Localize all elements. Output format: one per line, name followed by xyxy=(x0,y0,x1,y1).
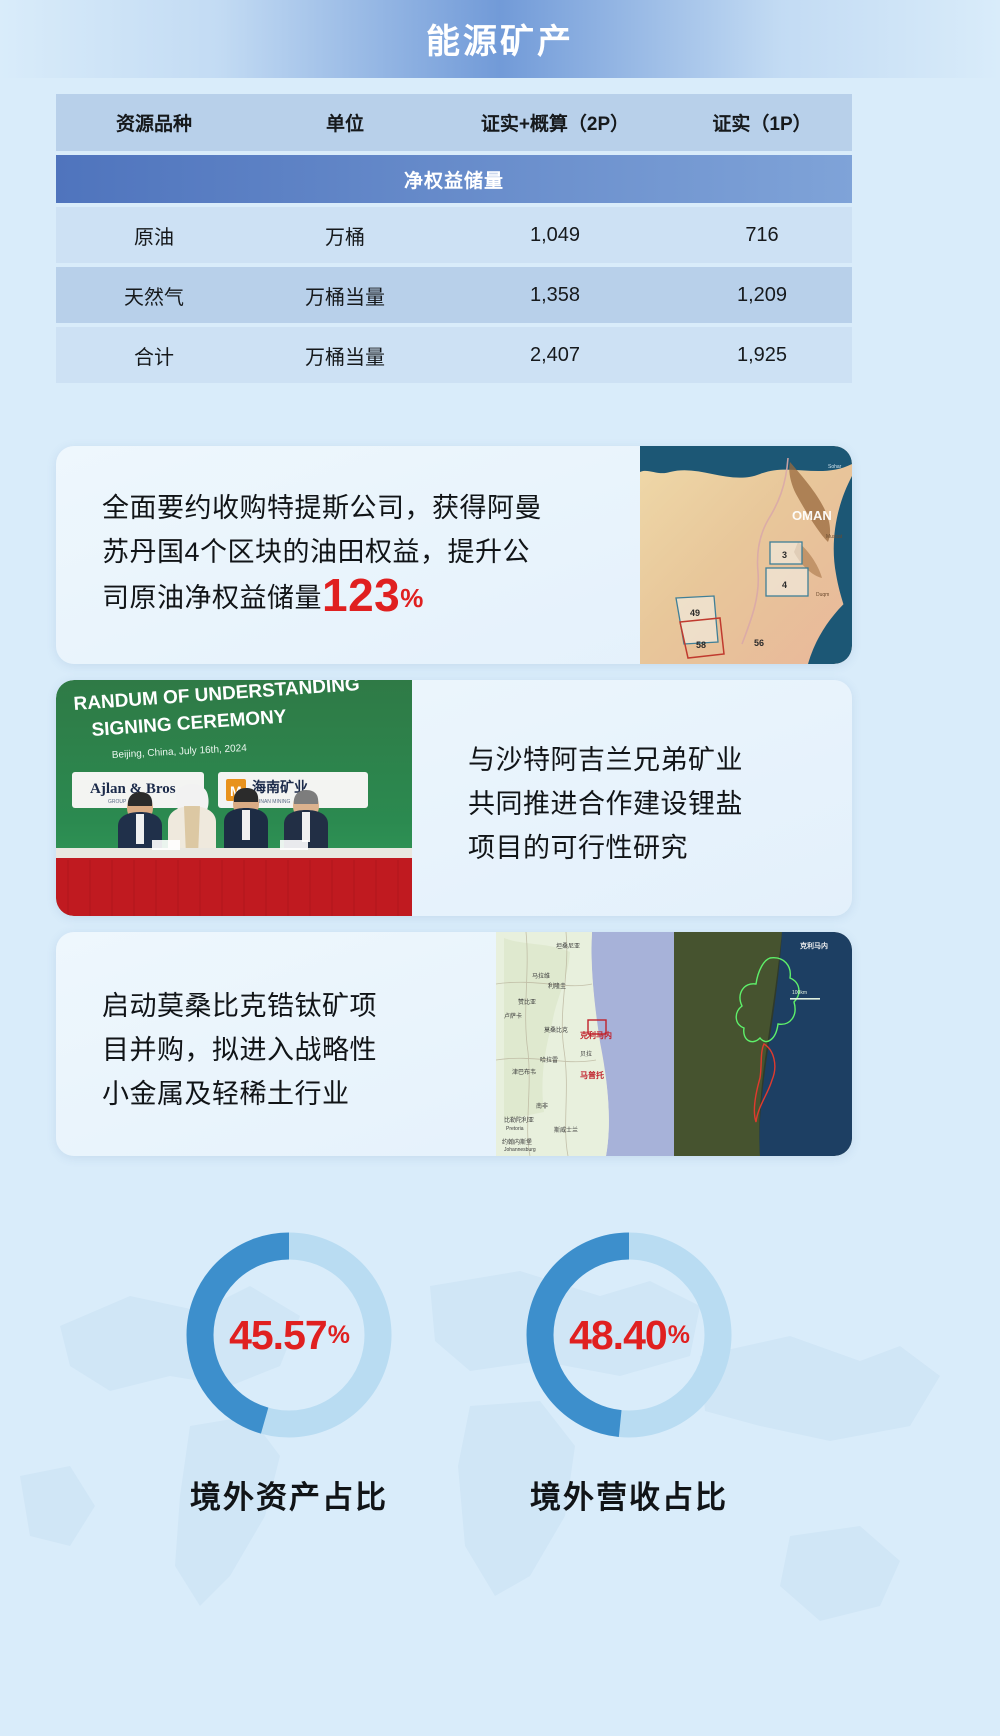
label-beira: 贝拉 xyxy=(580,1050,592,1058)
card-ajlan-line2: 共同推进合作建设锂盐 xyxy=(468,782,818,826)
net-equity-reserves-table: 净权益储量 资源品种 单位 证实+概算（2P） 证实（1P） 原油 万桶 1,0… xyxy=(56,90,852,387)
label-south-africa: 南非 xyxy=(536,1102,548,1110)
card-tethys-line3: 司原油净权益储量123% xyxy=(102,574,647,620)
oman-country-label: OMAN xyxy=(792,508,832,523)
label-mozambique: 莫桑比克 xyxy=(544,1026,568,1034)
card-tethys-text: 全面要约收购特提斯公司，获得阿曼 苏丹国4个区块的油田权益，提升公 司原油净权益… xyxy=(102,486,647,620)
label-pretoria-cn: 比勒陀利亚 xyxy=(504,1116,534,1124)
donut-value-number-2: 48.40 xyxy=(569,1312,667,1359)
card-tethys-line3-prefix: 司原油净权益储量 xyxy=(102,583,322,613)
label-joburg-cn: 约翰内斯堡 xyxy=(502,1138,532,1146)
cell-unit: 万桶 xyxy=(252,207,438,263)
oman-city-sohar: Sohar xyxy=(828,464,842,470)
label-malawi: 马拉维 xyxy=(532,972,550,980)
card-ajlan-lithium-mou: RANDUM OF UNDERSTANDING SIGNING CEREMONY… xyxy=(56,680,852,916)
card-mozambique-project: 启动莫桑比克锆钛矿项 目并购，拟进入战略性 小金属及轻稀土行业 坦桑尼亚 马拉维 xyxy=(56,932,852,1156)
label-quelimane-red: 克利马内 xyxy=(580,1030,612,1040)
label-pretoria-en: Pretoria xyxy=(506,1126,524,1132)
satellite-label-quelimane: 克利马内 xyxy=(800,941,828,950)
donut-value-unit-2: % xyxy=(668,1321,689,1350)
oman-city-duqm: Duqm xyxy=(816,592,829,598)
card-ajlan-line3: 项目的可行性研究 xyxy=(468,826,818,870)
card-tethys-line1: 全面要约收购特提斯公司，获得阿曼 xyxy=(102,486,647,530)
world-map-background xyxy=(0,1176,1000,1736)
satellite-scale-label: 100km xyxy=(792,990,807,996)
mozambique-project-maps: 坦桑尼亚 马拉维 利隆圭 赞比亚 卢萨卡 莫桑比克 哈拉雷 津巴布韦 南非 比勒… xyxy=(496,932,852,1156)
oman-block-label-4: 4 xyxy=(782,580,787,590)
table-row: 天然气 万桶当量 1,358 1,209 xyxy=(56,267,852,323)
oman-concession-map: OMAN Sohar Muscat Duqm 3 4 49 58 56 xyxy=(640,446,852,664)
highlight-number-123: 123 xyxy=(322,569,400,621)
card-tethys-line2: 苏丹国4个区块的油田权益，提升公 xyxy=(102,530,647,574)
cell-unit: 万桶当量 xyxy=(252,267,438,323)
card-tethys-acquisition: 全面要约收购特提斯公司，获得阿曼 苏丹国4个区块的油田权益，提升公 司原油净权益… xyxy=(56,446,852,664)
donut-value-1: 45.57% xyxy=(174,1220,404,1450)
cell-1p: 1,925 xyxy=(672,327,852,383)
label-eswatini: 斯威士兰 xyxy=(554,1126,578,1134)
label-maputo-red: 马普托 xyxy=(580,1070,604,1080)
cell-species: 合计 xyxy=(56,327,252,383)
oman-block-label-56: 56 xyxy=(754,638,764,648)
cell-1p: 716 xyxy=(672,207,852,263)
label-joburg-en: Johannesburg xyxy=(504,1147,536,1153)
table-caption-row: 净权益储量 xyxy=(56,155,852,203)
mozambique-satellite-map: 克利马内 100km xyxy=(674,932,852,1156)
cell-2p: 1,358 xyxy=(438,267,672,323)
column-header-1p: 证实（1P） xyxy=(672,94,852,151)
ceremony-logo-ajlan-sub: GROUP xyxy=(108,799,127,805)
cell-2p: 1,049 xyxy=(438,207,672,263)
donut-overseas-assets: 45.57% xyxy=(174,1220,404,1450)
label-harare: 哈拉雷 xyxy=(540,1056,558,1064)
table-row: 原油 万桶 1,049 716 xyxy=(56,207,852,263)
oman-city-muscat: Muscat xyxy=(826,534,843,540)
card-mozambique-line3: 小金属及轻稀土行业 xyxy=(102,1072,442,1116)
card-ajlan-text: 与沙特阿吉兰兄弟矿业 共同推进合作建设锂盐 项目的可行性研究 xyxy=(468,738,818,870)
donut-label-overseas-revenue: 境外营收占比 xyxy=(464,1472,794,1517)
cell-1p: 1,209 xyxy=(672,267,852,323)
cell-2p: 2,407 xyxy=(438,327,672,383)
donut-overseas-revenue: 48.40% xyxy=(514,1220,744,1450)
donut-label-overseas-assets: 境外资产占比 xyxy=(124,1472,454,1517)
table-row: 合计 万桶当量 2,407 1,925 xyxy=(56,327,852,383)
table-header-row: 资源品种 单位 证实+概算（2P） 证实（1P） xyxy=(56,94,852,151)
card-mozambique-line2: 目并购，拟进入战略性 xyxy=(102,1028,442,1072)
label-zimbabwe: 津巴布韦 xyxy=(512,1068,536,1076)
highlight-percent-sign: % xyxy=(400,583,424,613)
donut-value-unit-1: % xyxy=(328,1321,349,1350)
column-header-unit: 单位 xyxy=(252,94,438,151)
cell-unit: 万桶当量 xyxy=(252,327,438,383)
page-title: 能源矿产 xyxy=(0,14,1000,63)
mou-signing-ceremony-photo: RANDUM OF UNDERSTANDING SIGNING CEREMONY… xyxy=(56,680,412,916)
oman-block-label-49: 49 xyxy=(690,608,700,618)
card-mozambique-text: 启动莫桑比克锆钛矿项 目并购，拟进入战略性 小金属及轻稀土行业 xyxy=(102,984,442,1116)
oman-block-label-58: 58 xyxy=(696,640,706,650)
card-ajlan-line1: 与沙特阿吉兰兄弟矿业 xyxy=(468,738,818,782)
cell-species: 天然气 xyxy=(56,267,252,323)
label-zambia: 赞比亚 xyxy=(518,998,536,1006)
card-mozambique-line1: 启动莫桑比克锆钛矿项 xyxy=(102,984,442,1028)
column-header-species: 资源品种 xyxy=(56,94,252,151)
oman-block-label-3: 3 xyxy=(782,550,787,560)
donut-value-2: 48.40% xyxy=(514,1220,744,1450)
table-caption: 净权益储量 xyxy=(56,155,852,203)
label-tanzania: 坦桑尼亚 xyxy=(556,942,580,950)
mozambique-region-map: 坦桑尼亚 马拉维 利隆圭 赞比亚 卢萨卡 莫桑比克 哈拉雷 津巴布韦 南非 比勒… xyxy=(496,932,674,1156)
cell-species: 原油 xyxy=(56,207,252,263)
donut-value-number-1: 45.57 xyxy=(229,1312,327,1359)
label-lilongwe: 利隆圭 xyxy=(548,982,566,990)
label-lusaka: 卢萨卡 xyxy=(504,1012,522,1020)
column-header-2p: 证实+概算（2P） xyxy=(438,94,672,151)
